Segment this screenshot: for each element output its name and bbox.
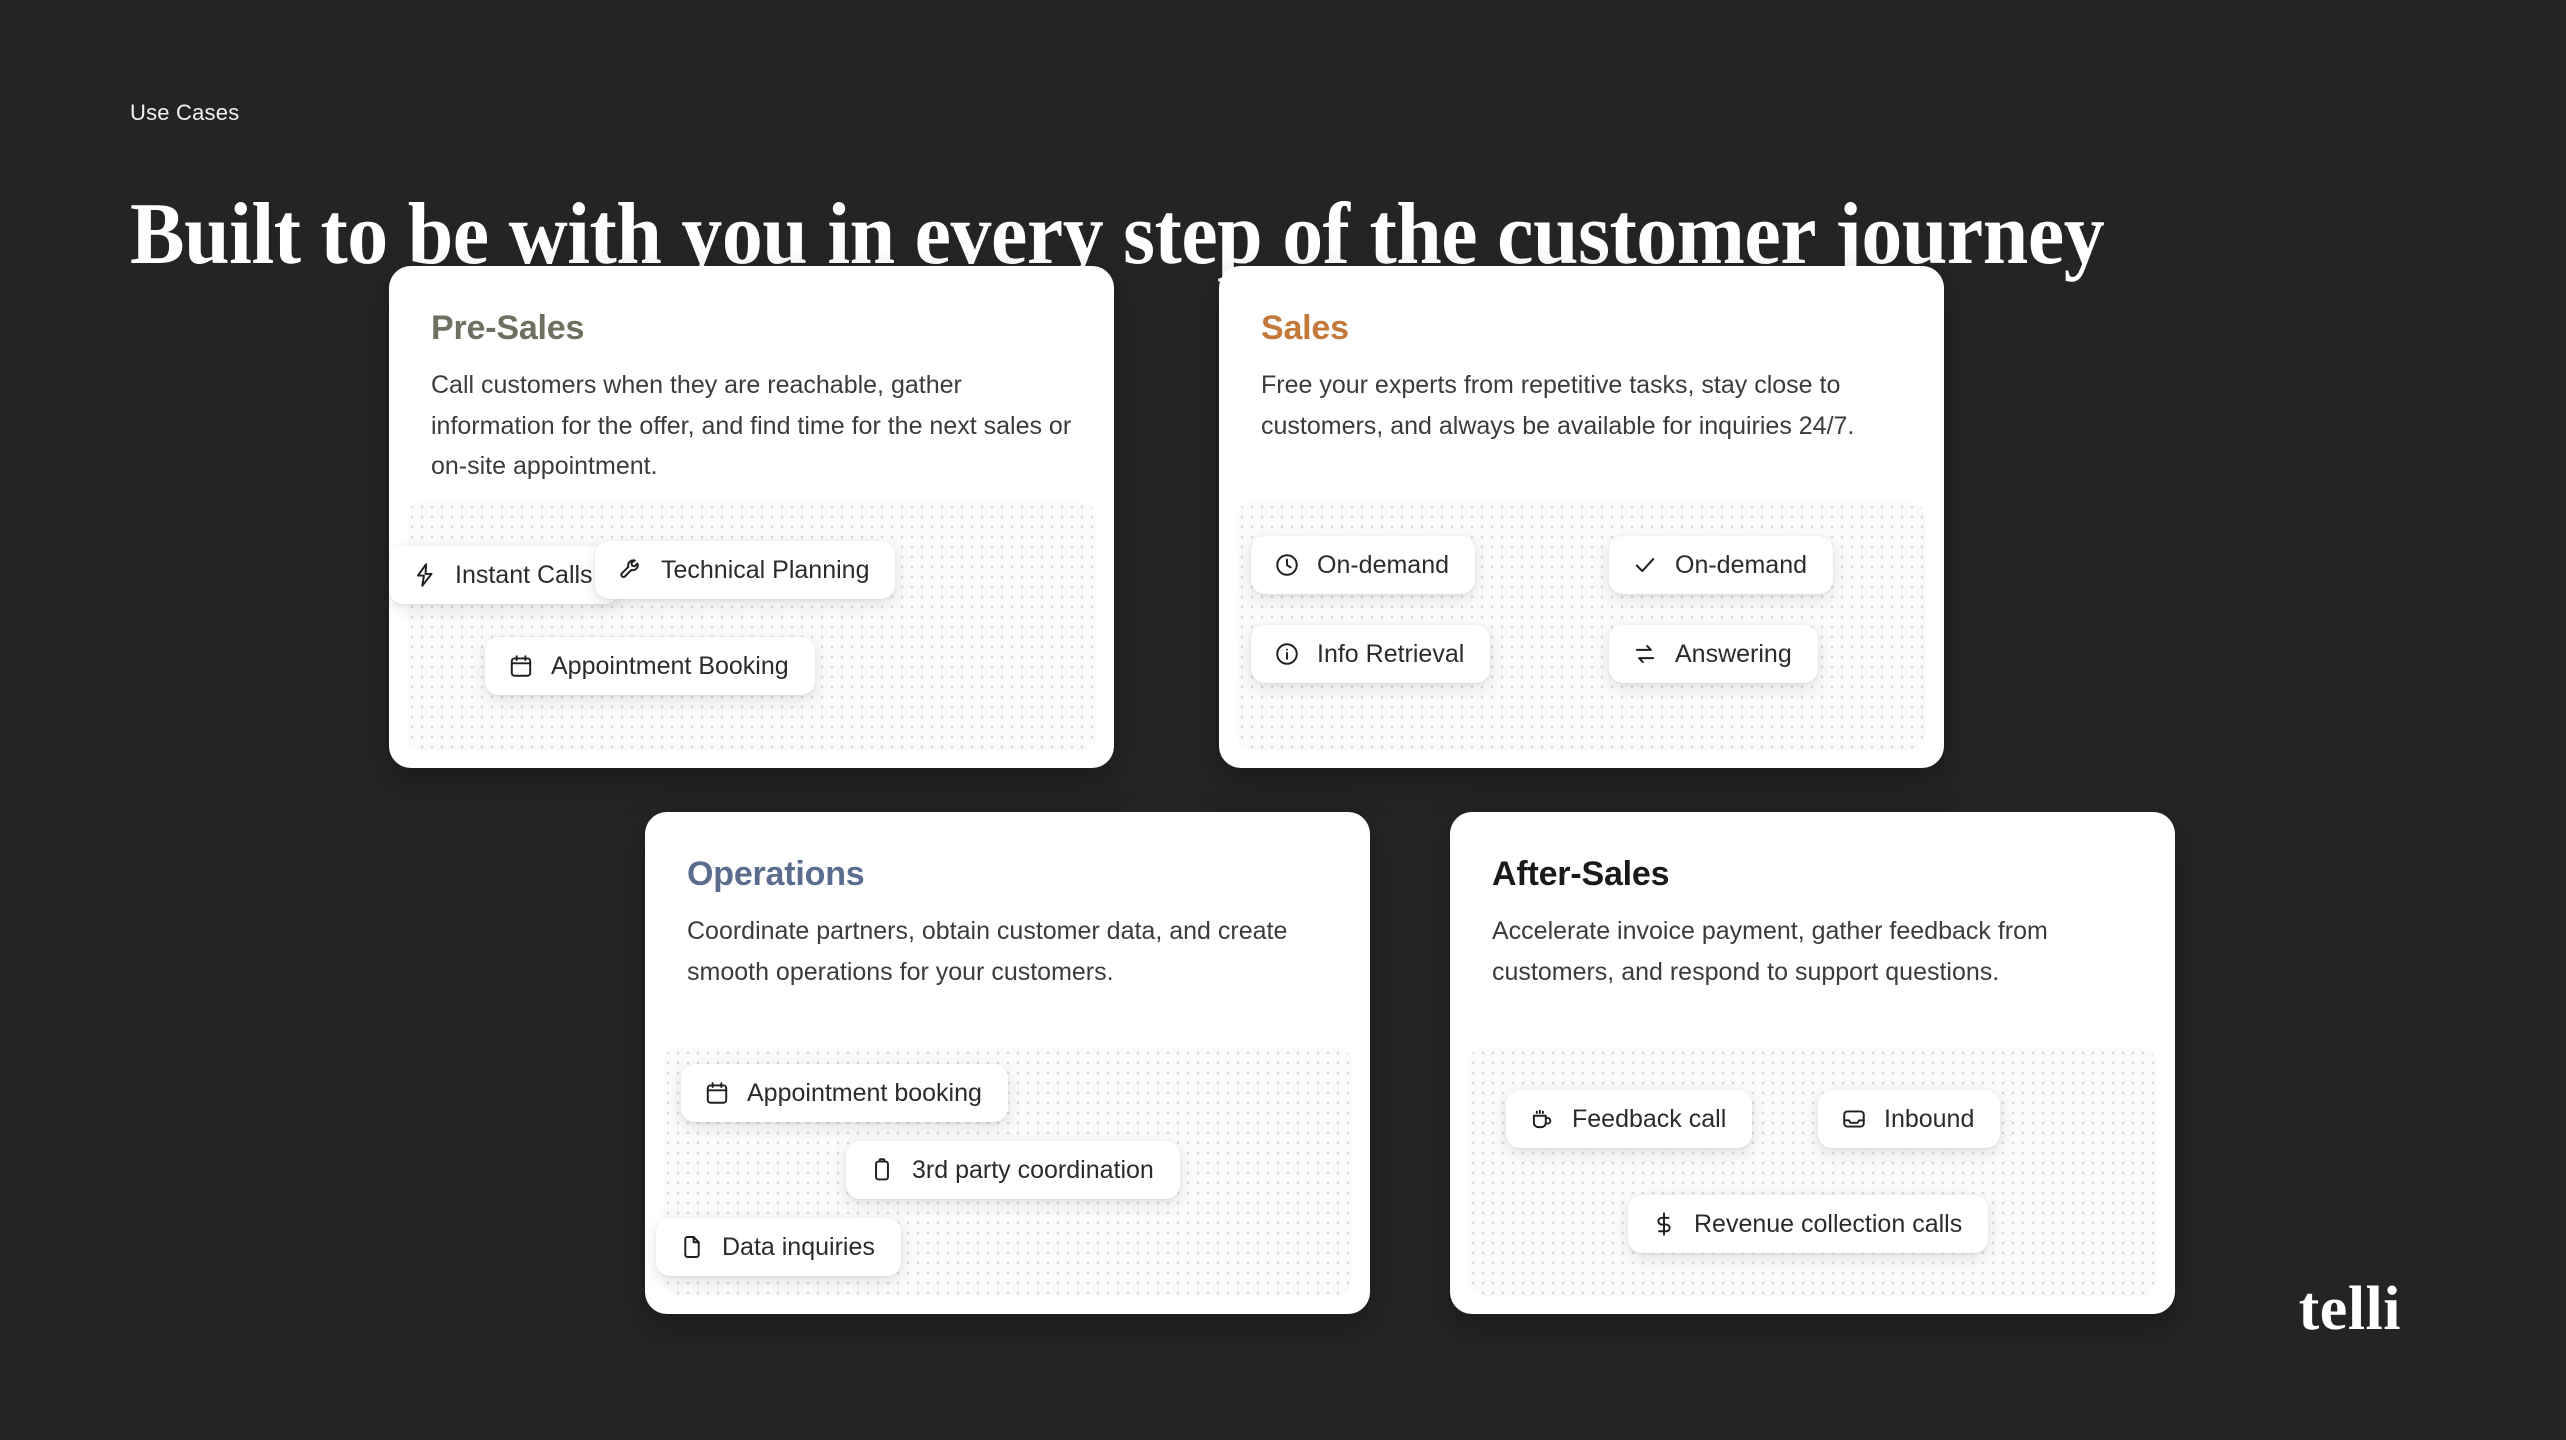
pill-feedback-call[interactable]: Feedback call <box>1506 1090 1752 1148</box>
card-description-operations: Coordinate partners, obtain customer dat… <box>687 911 1328 992</box>
telli-logo: telli <box>2299 1278 2401 1340</box>
card-title-sales: Sales <box>1261 310 1902 347</box>
clock-icon <box>1273 551 1301 579</box>
card-title-pre-sales: Pre-Sales <box>431 310 1072 347</box>
pill-label: On-demand <box>1675 553 1807 578</box>
use-cases-section: Use Cases Built to be with you in every … <box>0 0 2566 1440</box>
pill-3rd-party-coordination[interactable]: 3rd party coordination <box>846 1141 1180 1199</box>
card-title-operations: Operations <box>687 856 1328 893</box>
wrench-icon <box>617 556 645 584</box>
pill-label: Data inquiries <box>722 1235 875 1260</box>
card-title-after-sales: After-Sales <box>1492 856 2133 893</box>
card-description-after-sales: Accelerate invoice payment, gather feedb… <box>1492 911 2133 992</box>
pill-label: Inbound <box>1884 1107 1974 1132</box>
lightning-bolt-icon <box>411 561 439 589</box>
card-header: Sales Free your experts from repetitive … <box>1219 266 1944 446</box>
pill-answering[interactable]: Answering <box>1609 625 1818 683</box>
dotted-panel-sales: On-demand On-demand <box>1237 502 1926 750</box>
pill-label: Revenue collection calls <box>1694 1212 1962 1237</box>
inbox-icon <box>1840 1105 1868 1133</box>
pill-label: Answering <box>1675 642 1792 667</box>
pill-label: Instant Calls <box>455 563 593 588</box>
pill-label: Feedback call <box>1572 1107 1726 1132</box>
pill-appointment-booking[interactable]: Appointment booking <box>681 1064 1008 1122</box>
card-header: Pre-Sales Call customers when they are r… <box>389 266 1114 487</box>
card-header: Operations Coordinate partners, obtain c… <box>645 812 1370 992</box>
card-header: After-Sales Accelerate invoice payment, … <box>1450 812 2175 992</box>
dotted-panel-pre-sales: Instant Calls Technical Planning <box>407 502 1096 750</box>
pill-appointment-booking[interactable]: Appointment Booking <box>485 637 815 695</box>
check-icon <box>1631 551 1659 579</box>
calendar-icon <box>507 652 535 680</box>
dotted-panel-after-sales: Feedback call Inbound <box>1468 1048 2157 1296</box>
pill-on-demand-check[interactable]: On-demand <box>1609 536 1833 594</box>
use-case-card-pre-sales[interactable]: Pre-Sales Call customers when they are r… <box>389 266 1114 768</box>
clipboard-icon <box>868 1156 896 1184</box>
use-case-card-sales[interactable]: Sales Free your experts from repetitive … <box>1219 266 1944 768</box>
coffee-cup-icon <box>1528 1105 1556 1133</box>
pill-panel-wrap: Appointment booking 3rd party coordinati… <box>645 992 1370 1314</box>
pill-label: Appointment booking <box>747 1081 982 1106</box>
pill-label: Info Retrieval <box>1317 642 1464 667</box>
pill-label: On-demand <box>1317 553 1449 578</box>
pill-instant-calls[interactable]: Instant Calls <box>389 546 619 604</box>
pill-revenue-collection-calls[interactable]: Revenue collection calls <box>1628 1195 1988 1253</box>
pill-label: 3rd party coordination <box>912 1158 1154 1183</box>
dotted-panel-operations: Appointment booking 3rd party coordinati… <box>663 1048 1352 1296</box>
pill-info-retrieval[interactable]: Info Retrieval <box>1251 625 1490 683</box>
pill-panel-wrap: Instant Calls Technical Planning <box>389 487 1114 768</box>
use-case-card-after-sales[interactable]: After-Sales Accelerate invoice payment, … <box>1450 812 2175 1314</box>
file-icon <box>678 1233 706 1261</box>
calendar-icon <box>703 1079 731 1107</box>
pill-inbound[interactable]: Inbound <box>1818 1090 2000 1148</box>
info-icon <box>1273 640 1301 668</box>
use-case-card-operations[interactable]: Operations Coordinate partners, obtain c… <box>645 812 1370 1314</box>
pill-on-demand-clock[interactable]: On-demand <box>1251 536 1475 594</box>
pill-technical-planning[interactable]: Technical Planning <box>595 541 895 599</box>
swap-arrows-icon <box>1631 640 1659 668</box>
pill-panel-wrap: Feedback call Inbound <box>1450 992 2175 1314</box>
dollar-icon <box>1650 1210 1678 1238</box>
card-description-pre-sales: Call customers when they are reachable, … <box>431 365 1072 487</box>
use-case-card-grid: Pre-Sales Call customers when they are r… <box>0 0 2566 1440</box>
card-description-sales: Free your experts from repetitive tasks,… <box>1261 365 1902 446</box>
pill-label: Appointment Booking <box>551 654 789 679</box>
pill-panel-wrap: On-demand On-demand <box>1219 446 1944 768</box>
pill-data-inquiries[interactable]: Data inquiries <box>656 1218 901 1276</box>
pill-label: Technical Planning <box>661 558 869 583</box>
